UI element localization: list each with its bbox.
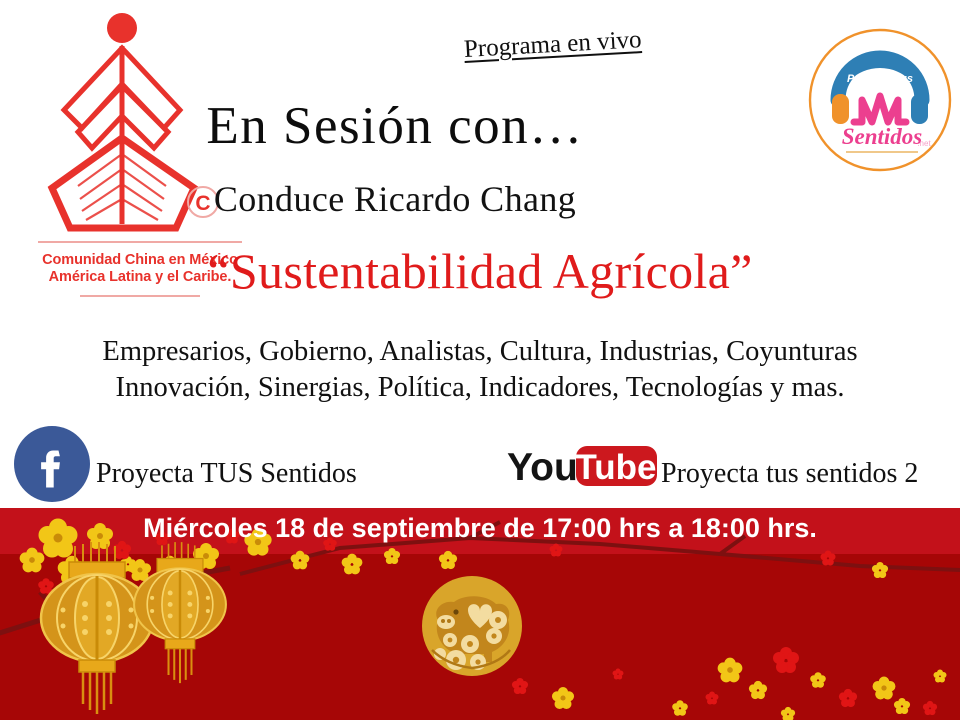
- facebook-handle[interactable]: Proyecta TUS Sentidos: [96, 458, 357, 490]
- social-links-row: Proyecta TUS Sentidos You Tube Proyecta …: [0, 424, 960, 504]
- topic-keywords: Empresarios, Gobierno, Analistas, Cultur…: [0, 334, 960, 406]
- blossom-scatter-bottom: [552, 658, 947, 720]
- proyecta-tus-sentidos-logo: Proyecta tus Sentidos .net: [806, 26, 954, 174]
- waveform-icon: [854, 96, 906, 122]
- logo-suffix-text: .net: [917, 139, 931, 148]
- earcup-left-icon: [832, 94, 849, 124]
- schedule-text: Miércoles 18 de septiembre de 17:00 hrs …: [0, 508, 960, 548]
- youtube-word-tube: Tube: [575, 448, 656, 487]
- youtube-word-you: You: [507, 446, 578, 489]
- youtube-handle[interactable]: Proyecta tus sentidos 2: [661, 458, 918, 490]
- zodiac-pig-medallion-icon: [422, 576, 522, 676]
- poster-canvas: C Comunidad China en México América Lati…: [0, 0, 960, 720]
- facebook-icon[interactable]: [14, 426, 90, 502]
- episode-topic: “Sustentabilidad Agrícola”: [0, 242, 960, 300]
- topic-keywords-line1: Empresarios, Gobierno, Analistas, Cultur…: [0, 334, 960, 370]
- logo-top-text: Proyecta tus: [847, 73, 913, 85]
- logo-script-text: Sentidos: [842, 124, 923, 149]
- topic-keywords-line2: Innovación, Sinergias, Política, Indicad…: [0, 370, 960, 406]
- page-title: En Sesión con…: [0, 96, 790, 156]
- youtube-icon[interactable]: You Tube: [506, 440, 658, 490]
- host-name: Conduce Ricardo Chang: [0, 178, 790, 220]
- earcup-right-icon: [911, 94, 928, 124]
